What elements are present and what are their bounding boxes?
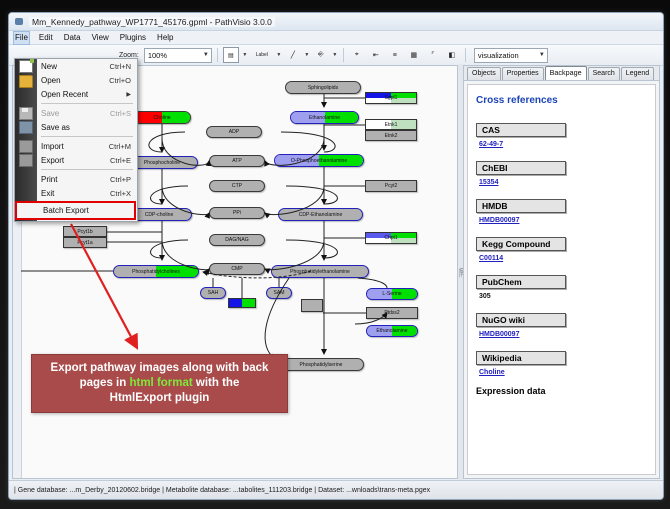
node-label-sphingolipids: Sphingolipids <box>308 85 338 91</box>
menu-file[interactable]: File <box>13 31 30 45</box>
line-dropdown-icon[interactable]: ▼ <box>304 52 310 58</box>
tab-properties[interactable]: Properties <box>502 67 544 80</box>
file-menu-label-new: New <box>41 62 57 71</box>
tab-legend[interactable]: Legend <box>621 67 654 80</box>
file-menu-item-batch-export[interactable]: Batch Export <box>15 201 136 220</box>
db-header-nugo-wiki: NuGO wiki <box>476 313 566 327</box>
node-label-dag-nag: DAG/NAG <box>225 237 249 243</box>
node-label-atp: ATP <box>232 158 242 164</box>
toolbar-separator-2 <box>343 48 344 62</box>
node-label-l-serine: L-Serine <box>382 291 401 297</box>
node-label-phosphocholine: Phosphocholine <box>144 160 180 166</box>
gene-label-sgpl1: Sgpl1 <box>385 95 398 101</box>
menu-bar: File Edit Data View Plugins Help <box>9 31 663 45</box>
open-folder-icon <box>19 75 33 88</box>
line-tool-icon[interactable]: ╱ <box>285 47 301 63</box>
gene-label-chpt1: Chpt1 <box>384 235 397 241</box>
chevron-down-icon-2: ▼ <box>539 52 545 58</box>
db-header-kegg-compound: Kegg Compound <box>476 237 566 251</box>
file-menu-accel-import: Ctrl+M <box>109 142 131 151</box>
interaction-tool-icon[interactable]: ⎆ <box>313 47 329 63</box>
db-header-wikipedia: Wikipedia <box>476 351 566 365</box>
db-header-cas: CAS <box>476 123 566 137</box>
db-value-chebi[interactable]: 15354 <box>479 179 647 186</box>
expression-data-heading: Expression data <box>476 386 647 396</box>
file-menu-item-new[interactable]: New Ctrl+N <box>15 59 137 73</box>
file-menu-separator-2 <box>41 136 133 137</box>
toolbar-separator <box>217 48 218 62</box>
db-value-nugo-wiki[interactable]: HMDB00097 <box>479 331 647 338</box>
file-menu-label-batch-export: Batch Export <box>43 206 89 215</box>
file-menu-dropdown: New Ctrl+N Open Ctrl+O Open Recent ▶ Sav… <box>14 58 138 222</box>
node-label-o-phosphoethanolamine: O-Phosphoethanolamine <box>291 158 347 164</box>
file-menu-label-print: Print <box>41 175 57 184</box>
callout-highlight: html format <box>129 377 192 389</box>
file-menu-accel-print: Ctrl+P <box>110 175 131 184</box>
menu-view[interactable]: View <box>90 32 111 44</box>
gene-label-ptdss2: Ptdss2 <box>384 310 399 316</box>
file-menu-label-save-as: Save as <box>41 123 70 132</box>
submenu-arrow-icon: ▶ <box>126 91 131 98</box>
size-icon[interactable]: ⌜ <box>425 47 441 63</box>
file-menu-label-open: Open <box>41 76 61 85</box>
tab-backpage[interactable]: Backpage <box>545 66 587 80</box>
tab-search[interactable]: Search <box>588 67 620 80</box>
gene-label-etnk1: Etnk1 <box>385 122 398 128</box>
file-menu-accel-save: Ctrl+S <box>110 109 131 118</box>
file-menu-label-import: Import <box>41 142 64 151</box>
db-value-pubchem: 305 <box>479 293 647 300</box>
backpage-content: Cross references CAS 62-49-7 ChEBI 15354… <box>467 84 656 475</box>
db-value-kegg-compound[interactable]: C00114 <box>479 255 647 262</box>
pathvisio-window: Mm_Kennedy_pathway_WP1771_45176.gpml - P… <box>8 12 664 500</box>
file-menu-accel-new: Ctrl+N <box>110 62 131 71</box>
group-icon[interactable]: ◧ <box>444 47 460 63</box>
cross-references-heading: Cross references <box>476 95 647 106</box>
desktop-background: Mm_Kennedy_pathway_WP1771_45176.gpml - P… <box>0 0 670 509</box>
align-top-icon[interactable]: ⌖ <box>349 47 365 63</box>
file-menu-separator-3 <box>41 169 133 170</box>
node-label-phosphatidylethanolamine: Phosphatidylethanolamine <box>290 269 350 275</box>
file-menu-item-import[interactable]: Import Ctrl+M <box>15 139 137 153</box>
align-center-icon[interactable]: ≡ <box>387 47 403 63</box>
file-menu-item-save-as[interactable]: Save as <box>15 120 137 134</box>
file-menu-label-exit: Exit <box>41 189 54 198</box>
align-left-icon[interactable]: ⇤ <box>368 47 384 63</box>
menu-edit[interactable]: Edit <box>37 32 55 44</box>
file-menu-item-exit[interactable]: Exit Ctrl+X <box>15 186 137 200</box>
annotation-callout: Export pathway images along with back pa… <box>31 354 288 413</box>
node-label-ctp: CTP <box>232 183 242 189</box>
visualization-combobox[interactable]: visualization ▼ <box>474 48 548 63</box>
zoom-combobox[interactable]: 100% ▼ <box>144 48 212 63</box>
label-dropdown-icon[interactable]: ▼ <box>276 52 282 58</box>
datanode-dropdown-icon[interactable]: ▼ <box>242 52 248 58</box>
file-menu-item-print[interactable]: Print Ctrl+P <box>15 172 137 186</box>
node-label-phosphatidylserine: Phosphatidylserine <box>299 362 342 368</box>
import-icon <box>19 140 33 153</box>
toolbar-separator-3 <box>465 48 466 62</box>
tab-objects[interactable]: Objects <box>467 67 501 80</box>
node-label-sam: SAM <box>273 290 284 296</box>
callout-line2-a: pages in <box>80 377 130 389</box>
stack-columns-icon[interactable]: ▦ <box>406 47 422 63</box>
node-label-choline-top: Choline <box>153 115 170 121</box>
file-menu-label-open-recent: Open Recent <box>41 90 88 99</box>
node-label-ethanolamine-right: Ethanolamine <box>376 328 407 334</box>
interaction-dropdown-icon[interactable]: ▼ <box>332 52 338 58</box>
db-header-pubchem: PubChem <box>476 275 566 289</box>
db-value-cas[interactable]: 62-49-7 <box>479 141 647 148</box>
file-menu-label-save: Save <box>41 109 59 118</box>
file-menu-item-open[interactable]: Open Ctrl+O <box>15 73 137 87</box>
node-label-ethanolamine: Ethanolamine <box>309 115 340 121</box>
menu-data[interactable]: Data <box>62 32 83 44</box>
callout-text: Export pathway images along with back pa… <box>45 361 275 406</box>
file-menu-accel-export: Ctrl+E <box>110 156 131 165</box>
datanode-tool-icon[interactable]: ▤ <box>223 47 239 63</box>
node-label-adp: ADP <box>229 129 239 135</box>
status-text: | Gene database: ...m_Derby_20120602.bri… <box>14 487 430 494</box>
db-header-hmdb: HMDB <box>476 199 566 213</box>
callout-line2-b: with the <box>193 377 240 389</box>
visualization-value: visualization <box>477 51 519 60</box>
node-label-cmp: CMP <box>231 266 242 272</box>
file-menu-accel-exit: Ctrl+X <box>110 189 131 198</box>
menu-help[interactable]: Help <box>155 32 175 44</box>
status-bar: | Gene database: ...m_Derby_20120602.bri… <box>9 480 664 499</box>
side-panel: Objects Properties Backpage Search Legen… <box>463 65 660 479</box>
file-menu-item-export[interactable]: Export Ctrl+E <box>15 153 137 167</box>
file-menu-label-export: Export <box>41 156 64 165</box>
gene-label-pcyt2: Pcyt2 <box>385 183 398 189</box>
save-icon <box>19 107 33 120</box>
label-tool-icon[interactable]: Label <box>251 47 273 63</box>
node-label-ppi: PPi <box>233 210 241 216</box>
db-value-wikipedia[interactable]: Choline <box>479 369 647 376</box>
db-header-chebi: ChEBI <box>476 161 566 175</box>
side-panel-tabs: Objects Properties Backpage Search Legen… <box>464 66 659 81</box>
file-menu-item-open-recent[interactable]: Open Recent ▶ <box>15 87 137 101</box>
zoom-value: 100% <box>147 51 167 60</box>
export-icon <box>19 154 33 167</box>
menu-plugins[interactable]: Plugins <box>118 32 148 44</box>
file-menu-item-save: Save Ctrl+S <box>15 106 137 120</box>
new-document-icon <box>19 60 33 73</box>
file-menu-separator-1 <box>41 103 133 104</box>
window-title: Mm_Kennedy_pathway_WP1771_45176.gpml - P… <box>29 17 275 27</box>
node-label-cdp-ethanolamine: CDP-Ethanolamine <box>299 212 343 218</box>
chevron-down-icon: ▼ <box>203 52 209 58</box>
file-menu-accel-open: Ctrl+O <box>109 76 131 85</box>
save-as-icon <box>19 121 33 134</box>
pathvisio-icon <box>14 16 25 27</box>
gene-label-etnk2: Etnk2 <box>385 133 398 139</box>
callout-line3: HtmlExport plugin <box>110 392 210 404</box>
db-value-hmdb[interactable]: HMDB00097 <box>479 217 647 224</box>
callout-line1: Export pathway images along with back <box>51 362 269 374</box>
title-bar: Mm_Kennedy_pathway_WP1771_45176.gpml - P… <box>9 13 663 31</box>
